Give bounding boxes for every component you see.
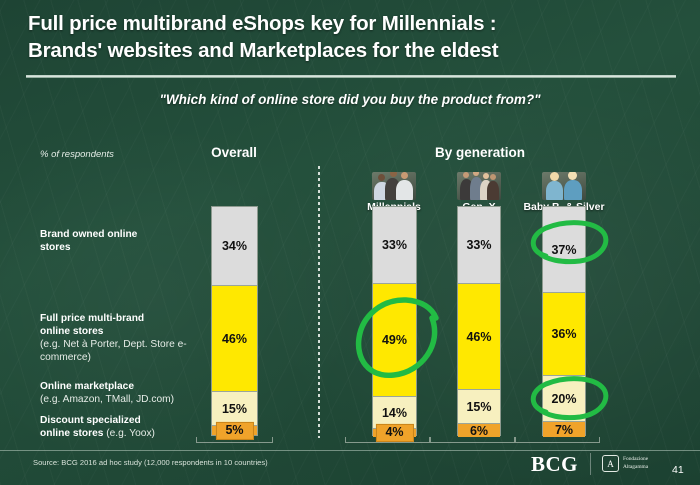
footer-divider xyxy=(0,450,700,451)
segment-genx-full-price: 46% xyxy=(458,283,500,389)
altagamma-mark-icon: A xyxy=(602,455,619,472)
segment-boomers-discount: 7% xyxy=(543,421,585,437)
row-label-discount-sub: (e.g. Yoox) xyxy=(106,428,155,439)
bar-boomers[interactable]: 37% 36% 20% 7% xyxy=(542,206,586,436)
segment-millennials-full-price: 49% xyxy=(373,283,416,396)
page-title: Full price multibrand eShops key for Mil… xyxy=(28,10,676,65)
row-label-marketplace: Online marketplace (e.g. Amazon, TMall, … xyxy=(40,380,210,406)
millennials-photo xyxy=(372,172,416,200)
row-label-full-price-sub: (e.g. Net à Porter, Dept. Store e-commer… xyxy=(40,339,187,363)
row-label-brand-owned: Brand owned online stores xyxy=(40,228,210,254)
axis-unit-note: % of respondents xyxy=(40,149,114,160)
bracket-genx xyxy=(430,437,515,443)
row-label-discount-line1: Discount specialized xyxy=(40,415,141,426)
segment-genx-marketplace: 15% xyxy=(458,389,500,423)
row-label-discount: Discount specialized online stores (e.g.… xyxy=(40,414,210,440)
logo-separator xyxy=(590,453,591,475)
segment-overall-discount: 5% xyxy=(212,425,257,435)
source-note: Source: BCG 2016 ad hoc study (12,000 re… xyxy=(33,458,268,467)
column-header-overall: Overall xyxy=(184,145,284,160)
segment-genx-brand-owned: 33% xyxy=(458,207,500,283)
segment-overall-marketplace: 15% xyxy=(212,391,257,425)
segment-boomers-brand-owned: 37% xyxy=(543,207,585,292)
row-label-marketplace-line1: Online marketplace xyxy=(40,381,134,392)
segment-boomers-full-price: 36% xyxy=(543,292,585,375)
page-title-line1: Full price multibrand eShops key for Mil… xyxy=(28,10,676,37)
row-label-brand-owned-line1: Brand owned online xyxy=(40,229,137,240)
segment-boomers-marketplace: 20% xyxy=(543,375,585,421)
bar-genx[interactable]: 33% 46% 15% 6% xyxy=(457,206,501,436)
genx-photo xyxy=(457,172,501,200)
survey-question: "Which kind of online store did you buy … xyxy=(0,92,700,107)
altagamma-logo-line2: Altagamma xyxy=(623,464,648,471)
row-label-discount-line2: online stores xyxy=(40,428,106,439)
altagamma-logo-line1: Fondazione xyxy=(623,456,648,463)
segment-overall-brand-owned: 34% xyxy=(212,207,257,285)
segment-genx-discount: 6% xyxy=(458,423,500,437)
boomers-photo xyxy=(542,172,586,200)
segment-millennials-discount: 4% xyxy=(373,428,416,437)
column-header-by-generation: By generation xyxy=(400,145,560,160)
row-label-brand-owned-line2: stores xyxy=(40,242,71,253)
bracket-boomers xyxy=(515,437,600,443)
altagamma-logo-text: Fondazione Altagamma xyxy=(623,456,648,471)
page-number: 41 xyxy=(672,464,684,476)
row-label-marketplace-sub: (e.g. Amazon, TMall, JD.com) xyxy=(40,394,174,405)
row-label-full-price-line2: online stores xyxy=(40,326,103,337)
bar-millennials[interactable]: 33% 49% 14% 4% xyxy=(372,206,417,436)
segment-overall-full-price: 46% xyxy=(212,285,257,391)
segment-millennials-brand-owned: 33% xyxy=(373,207,416,283)
segment-millennials-discount-label: 4% xyxy=(375,424,413,442)
bcg-logo: BCG xyxy=(531,452,578,477)
row-label-full-price: Full price multi-brand online stores (e.… xyxy=(40,312,210,364)
slide-canvas: Full price multibrand eShops key for Mil… xyxy=(0,0,700,485)
section-divider-dotted xyxy=(318,166,320,438)
bar-overall[interactable]: 34% 46% 15% 5% xyxy=(211,206,258,436)
segment-overall-discount-label: 5% xyxy=(215,421,253,439)
page-title-line2: Brands' websites and Marketplaces for th… xyxy=(28,37,676,64)
altagamma-logo: A Fondazione Altagamma xyxy=(602,455,648,472)
title-divider xyxy=(26,75,676,78)
row-label-full-price-line1: Full price multi-brand xyxy=(40,313,144,324)
